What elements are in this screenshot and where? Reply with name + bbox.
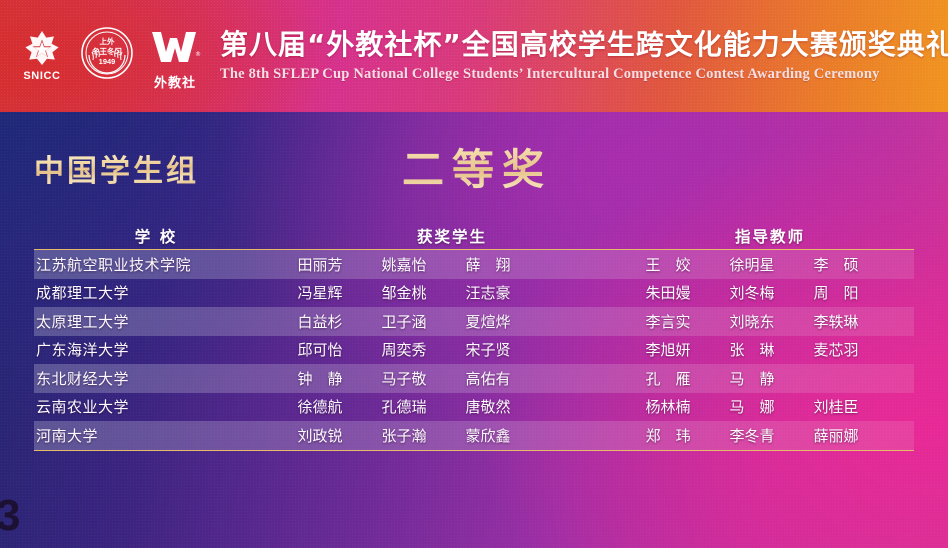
student-name: 刘政锐 — [278, 425, 362, 446]
teacher-name: 刘冬梅 — [710, 282, 794, 303]
cell-students: 邱可怡 周奕秀 宋子贤 — [278, 339, 626, 360]
cell-school: 广东海洋大学 — [34, 339, 278, 360]
sisu-seal-year: 1949 — [99, 57, 116, 66]
teacher-name: 郑 玮 — [626, 425, 710, 446]
sflep-w-icon: ® — [148, 26, 202, 66]
teacher-name: 麦芯羽 — [794, 339, 878, 360]
student-name: 冯星辉 — [278, 282, 362, 303]
column-header-students: 获奖学生 — [278, 225, 626, 247]
student-name: 田丽芳 — [278, 254, 362, 275]
slide-canvas: SNICC 上外 冬王冬习 1949 — [0, 0, 948, 548]
teacher-name: 孔 雁 — [626, 368, 710, 389]
cell-students: 刘政锐 张子瀚 蒙欣鑫 — [278, 425, 626, 446]
cell-teachers: 王 姣 徐明星 李 硕 — [626, 254, 914, 275]
table-header-row: 学 校 获奖学生 指导教师 — [34, 222, 914, 250]
teacher-name: 朱田嫚 — [626, 282, 710, 303]
cell-students: 白益杉 卫子涵 夏煊烨 — [278, 311, 626, 332]
sisu-seal-icon: 上外 冬王冬习 1949 — [80, 26, 134, 80]
svg-text:®: ® — [195, 51, 201, 58]
cell-teachers: 郑 玮 李冬青 薛丽娜 — [626, 425, 914, 446]
table-row: 云南农业大学 徐德航 孔德瑞 唐敬然 杨林楠 马 娜 刘桂臣 — [34, 393, 914, 422]
cell-school: 江苏航空职业技术学院 — [34, 254, 278, 275]
table-row: 广东海洋大学 邱可怡 周奕秀 宋子贤 李旭妍 张 琳 麦芯羽 — [34, 336, 914, 365]
teacher-name: 李轶琳 — [794, 311, 878, 332]
student-name: 马子敬 — [362, 368, 446, 389]
cell-school: 东北财经大学 — [34, 368, 278, 389]
column-header-teachers: 指导教师 — [626, 225, 914, 247]
cell-school: 太原理工大学 — [34, 311, 278, 332]
snicc-logo: SNICC — [14, 22, 70, 82]
teacher-name: 刘晓东 — [710, 311, 794, 332]
snicc-star-icon — [22, 28, 62, 68]
svg-text:上外: 上外 — [100, 36, 115, 46]
teacher-name: 马 娜 — [710, 396, 794, 417]
slide-number: 3 — [0, 494, 20, 538]
cell-school: 成都理工大学 — [34, 282, 278, 303]
cell-teachers: 杨林楠 马 娜 刘桂臣 — [626, 396, 914, 417]
student-name: 高佑有 — [446, 368, 530, 389]
teacher-name: 王 姣 — [626, 254, 710, 275]
snicc-logo-label: SNICC — [14, 70, 70, 82]
student-name: 张子瀚 — [362, 425, 446, 446]
teacher-name: 李 硕 — [794, 254, 878, 275]
cell-teachers: 李言实 刘晓东 李轶琳 — [626, 311, 914, 332]
table-bottom-rule — [34, 450, 914, 451]
teacher-name: 马 静 — [710, 368, 794, 389]
teacher-name: 李旭妍 — [626, 339, 710, 360]
cell-school: 河南大学 — [34, 425, 278, 446]
teacher-name: 李冬青 — [710, 425, 794, 446]
student-name: 唐敬然 — [446, 396, 530, 417]
student-name: 汪志豪 — [446, 282, 530, 303]
cell-teachers: 孔 雁 马 静 — [626, 368, 914, 389]
student-name: 邱可怡 — [278, 339, 362, 360]
student-name: 钟 静 — [278, 368, 362, 389]
teacher-name: 周 阳 — [794, 282, 878, 303]
student-name: 孔德瑞 — [362, 396, 446, 417]
student-name: 薛 翔 — [446, 254, 530, 275]
cell-students: 钟 静 马子敬 高佑有 — [278, 368, 626, 389]
student-name: 夏煊烨 — [446, 311, 530, 332]
sflep-w-logo: ® 外教社 — [144, 22, 206, 91]
student-name: 姚嘉怡 — [362, 254, 446, 275]
event-header-banner: SNICC 上外 冬王冬习 1949 — [0, 0, 948, 112]
cell-teachers: 朱田嫚 刘冬梅 周 阳 — [626, 282, 914, 303]
column-header-school: 学 校 — [34, 225, 278, 247]
teacher-name: 李言实 — [626, 311, 710, 332]
sflep-logo-label: 外教社 — [144, 72, 206, 91]
table-row: 江苏航空职业技术学院 田丽芳 姚嘉怡 薛 翔 王 姣 徐明星 李 硕 — [34, 250, 914, 279]
table-row: 河南大学 刘政锐 张子瀚 蒙欣鑫 郑 玮 李冬青 薛丽娜 — [34, 421, 914, 450]
student-name: 卫子涵 — [362, 311, 446, 332]
student-name: 白益杉 — [278, 311, 362, 332]
student-name: 宋子贤 — [446, 339, 530, 360]
teacher-name — [794, 368, 878, 389]
table-row: 成都理工大学 冯星辉 邹金桃 汪志豪 朱田嫚 刘冬梅 周 阳 — [34, 279, 914, 308]
teacher-name: 刘桂臣 — [794, 396, 878, 417]
teacher-name: 徐明星 — [710, 254, 794, 275]
sisu-seal-logo: 上外 冬王冬习 1949 — [78, 22, 136, 85]
event-title-en: The 8th SFLEP Cup National College Stude… — [220, 66, 948, 83]
table-row: 东北财经大学 钟 静 马子敬 高佑有 孔 雁 马 静 — [34, 364, 914, 393]
svg-text:冬王冬习: 冬王冬习 — [92, 46, 122, 56]
cell-teachers: 李旭妍 张 琳 麦芯羽 — [626, 339, 914, 360]
logo-group: SNICC 上外 冬王冬习 1949 — [0, 22, 206, 91]
award-level-title: 二等奖 — [0, 136, 948, 197]
teacher-name: 薛丽娜 — [794, 425, 878, 446]
student-name: 徐德航 — [278, 396, 362, 417]
cell-school: 云南农业大学 — [34, 396, 278, 417]
teacher-name: 张 琳 — [710, 339, 794, 360]
cell-students: 田丽芳 姚嘉怡 薛 翔 — [278, 254, 626, 275]
header-titles: 第八届“外教社杯”全国高校学生跨文化能力大赛颁奖典礼 The 8th SFLEP… — [220, 29, 948, 83]
cell-students: 徐德航 孔德瑞 唐敬然 — [278, 396, 626, 417]
awards-table: 学 校 获奖学生 指导教师 江苏航空职业技术学院 田丽芳 姚嘉怡 薛 翔 王 姣… — [34, 222, 914, 451]
event-title-cn: 第八届“外教社杯”全国高校学生跨文化能力大赛颁奖典礼 — [220, 29, 948, 61]
teacher-name: 杨林楠 — [626, 396, 710, 417]
student-name: 周奕秀 — [362, 339, 446, 360]
student-name: 蒙欣鑫 — [446, 425, 530, 446]
student-name: 邹金桃 — [362, 282, 446, 303]
cell-students: 冯星辉 邹金桃 汪志豪 — [278, 282, 626, 303]
table-row: 太原理工大学 白益杉 卫子涵 夏煊烨 李言实 刘晓东 李轶琳 — [34, 307, 914, 336]
